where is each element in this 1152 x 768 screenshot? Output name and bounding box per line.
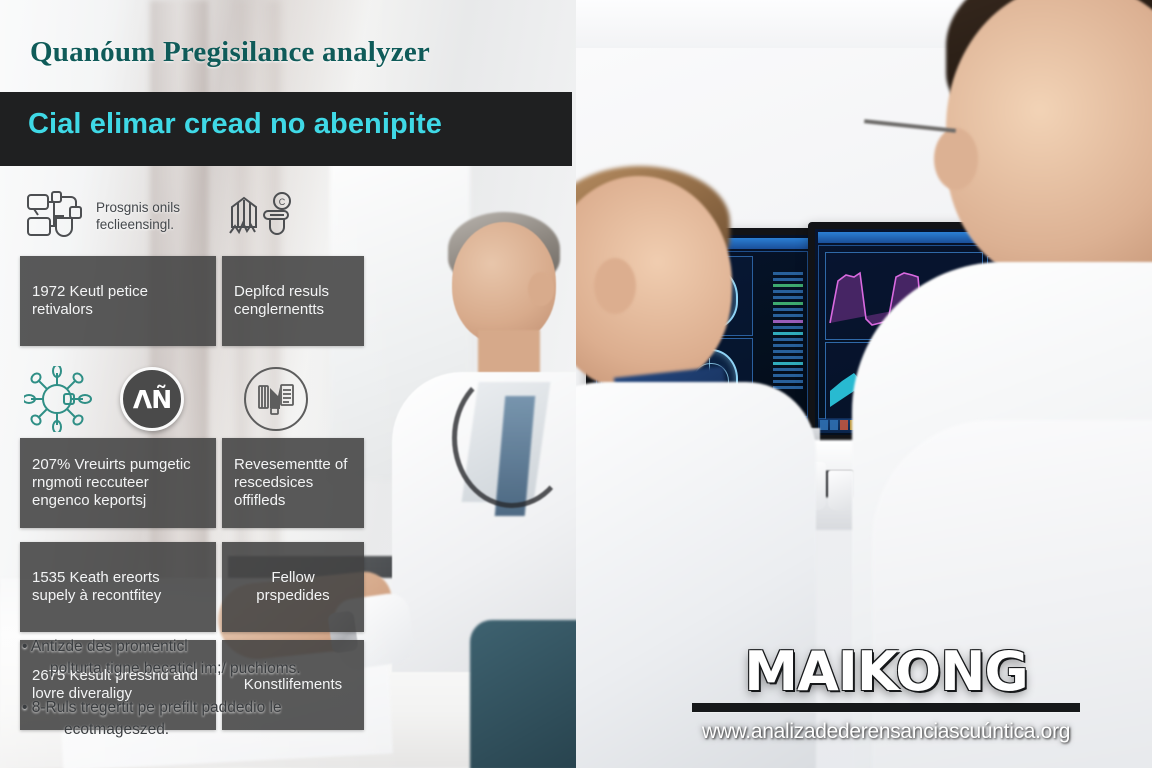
series-item [773,296,803,299]
series-item [773,332,803,335]
series-item [773,380,803,383]
series-item [773,326,803,329]
document-analysis-glyph [257,382,295,416]
feature-chip-6[interactable]: Fellow prspedides [222,542,364,632]
bullet-item-1: • Antizde des promenticl polturta tigne … [22,636,422,681]
bullet-list: • Antizde des promenticl polturta tigne … [22,636,422,758]
document-analysis-icon [244,367,308,431]
feature-chip-1[interactable]: 1972 Keutl petice retivalors [20,256,216,346]
series-item [773,338,803,341]
taskbar-icon[interactable] [830,420,838,430]
analyzer-badge-icon: ΛÑ [120,367,184,431]
feature-row-3: 1535 Keath ereorts supely à recontfitey … [20,542,364,632]
bullet-1-line-2: polturta tigne becaticl im;/ puchioms. [36,658,422,680]
series-item [773,278,803,281]
svg-text:C: C [279,197,286,207]
series-item [773,272,803,275]
feature-row-1-icons: Prosgnis onils feclieensingl. 1972 Keutl… [20,178,364,346]
feature-cell-5: 1535 Keath ereorts supely à recontfitey [20,542,216,632]
icon-row-3: ΛÑ [20,360,216,438]
building-chart-report-icon: C [226,189,298,245]
series-item [773,362,803,365]
flowchart-diagram-icon [24,190,86,244]
feature-cell-2: C Deplfcd resuls cenglernentts [222,178,364,346]
feature-cell-3: ΛÑ 207% Vreuirts pumgetic rngmoti reccut… [20,360,216,528]
taskbar-icon[interactable] [820,420,828,430]
left-infographic-panel: Quanóum Pregisilance analyzer Cial elima… [0,0,576,768]
feature-chip-4[interactable]: Revesementte of rescedsices offifleds [222,438,364,528]
series-item [773,344,803,347]
subtitle-text: Cial elimar cread no abenipite [28,108,558,141]
icon-row-1: Prosgnis onils feclieensingl. [20,178,216,256]
bullet-2-line-1: • 8-Ruls tregertit pe prefilt paddedio l… [22,699,282,716]
series-item [773,308,803,311]
analyzer-badge-label: ΛÑ [133,385,171,414]
viewer-right-shoulder [872,420,1152,768]
viewer-left-body [576,382,816,768]
icon-row-4 [222,360,364,438]
series-item [773,314,803,317]
right-photo-panel: — — — [576,0,1152,768]
feature-chip-3[interactable]: 207% Vreuirts pumgetic rngmoti reccuteer… [20,438,216,528]
feature-cell-1: Prosgnis onils feclieensingl. 1972 Keutl… [20,178,216,346]
desk-cup-2 [828,470,854,510]
icon-row-2: C [222,178,364,256]
series-item [773,302,803,305]
feature-cell-4: Revesementte of rescedsices offifleds [222,360,364,528]
feature-caption-1: Prosgnis onils feclieensingl. [96,200,216,234]
viewer-right-ear [934,128,978,190]
viewer-left-ear [594,258,636,314]
bullet-1-line-1: • Antizde des promenticl [22,638,188,655]
viewer-right-head [946,0,1152,284]
taskbar-icon[interactable] [840,420,848,430]
brain-series-list[interactable] [773,272,803,396]
feature-chip-5[interactable]: 1535 Keath ereorts supely à recontfitey [20,542,216,632]
feature-cell-6: Fellow prspedides [222,542,364,632]
series-item [773,284,803,287]
bullet-2-line-2: ecotmageszed. [36,719,422,741]
bullet-item-2: • 8-Ruls tregertit pe prefilt paddedio l… [22,697,422,742]
feature-chip-2[interactable]: Deplfcd resuls cenglernentts [222,256,364,346]
series-item [773,290,803,293]
virus-network-icon [24,366,96,432]
poster-canvas: Quanóum Pregisilance analyzer Cial elima… [0,0,1152,768]
page-title: Quanóum Pregisilance analyzer [30,36,550,69]
series-item [773,356,803,359]
series-item [773,368,803,371]
feature-row-2-icons: ΛÑ 207% Vreuirts pumgetic rngmoti reccut… [20,360,364,528]
series-item [773,350,803,353]
series-item [773,320,803,323]
series-item [773,374,803,377]
